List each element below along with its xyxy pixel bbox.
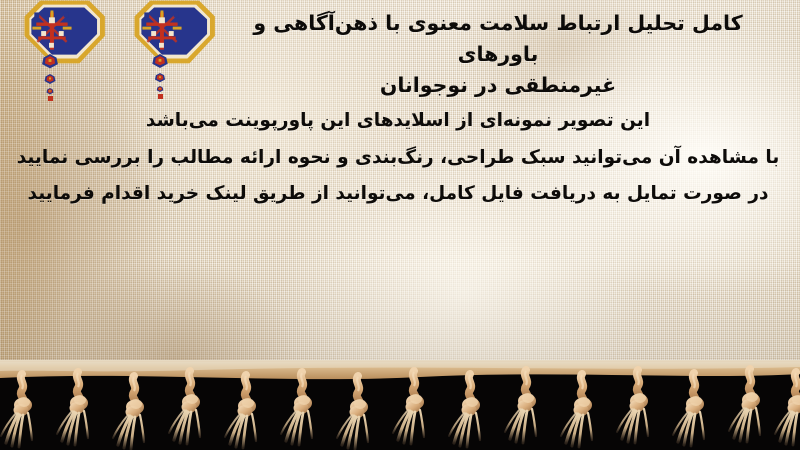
carpet-fringe [0, 360, 800, 450]
slide-body: این تصویر نمونه‌ای از اسلایدهای این پاور… [6, 112, 790, 204]
body-line-sample-notice: این تصویر نمونه‌ای از اسلایدهای این پاور… [6, 112, 790, 131]
body-line-purchase-link: در صورت تمایل به دریافت فایل کامل، می‌تو… [6, 185, 790, 204]
slide-title: کامل تحلیل ارتباط سلامت معنوی با ذهن‌آگا… [210, 8, 786, 101]
slide-title-line-2: غیرمنطقی در نوجوانان [210, 70, 786, 101]
slide-canvas: کامل تحلیل ارتباط سلامت معنوی با ذهن‌آگا… [0, 0, 800, 450]
fringe-tassels-icon [0, 360, 800, 450]
body-line-design-review: با مشاهده آن می‌توانید سبک طراحی، رنگ‌بن… [6, 149, 790, 168]
slide-title-line-1: کامل تحلیل ارتباط سلامت معنوی با ذهن‌آگا… [210, 8, 786, 70]
